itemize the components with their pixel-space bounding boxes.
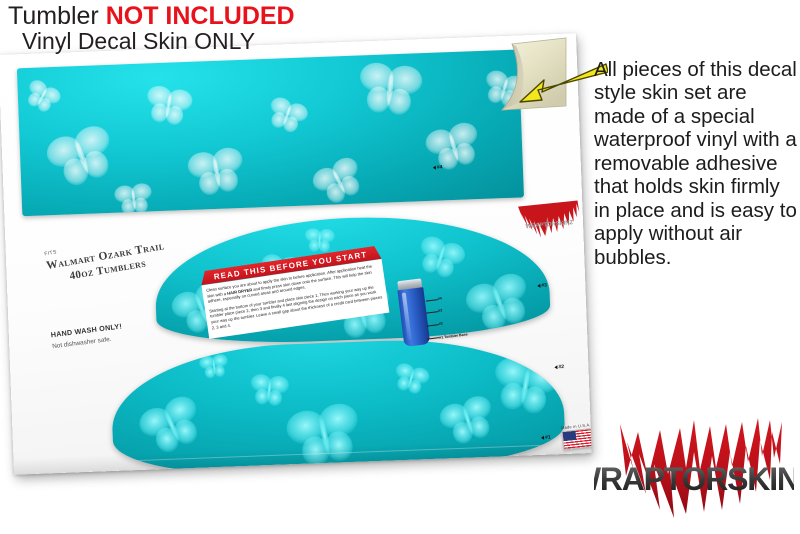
made-in-usa: Made in U.S.A. (561, 422, 592, 450)
edge-marker-3-label: #3 (541, 283, 547, 289)
edge-marker-3-arrow-icon (537, 283, 540, 287)
annotation-text: All pieces of this decal style skin set … (594, 58, 800, 269)
edge-marker-4-arrow-icon (433, 165, 436, 169)
edge-marker-2-label: #2 (558, 364, 564, 370)
header-line-2: Vinyl Decal Skin ONLY (22, 30, 295, 53)
tumbler-callout-4: #4 (438, 296, 442, 300)
hand-wash-notice: HAND WASH ONLY! Not dishwasher safe. (49, 316, 123, 351)
header-line-1: Tumbler NOT INCLUDED (8, 4, 295, 30)
tumbler-callout-3: #3 (438, 308, 442, 312)
edge-marker-1-arrow-icon (541, 435, 544, 439)
edge-marker-1: #1 (541, 435, 551, 441)
tumbler-callout-2: #2 (438, 321, 442, 325)
yellow-arrow-icon (508, 60, 608, 108)
edge-marker-3: #3 (537, 283, 547, 289)
edge-marker-2-arrow-icon (554, 365, 557, 369)
wraptorskinz-logo-text: WRAPTORSKINZ (594, 461, 794, 497)
header-line-1-prefix: Tumbler (8, 2, 106, 30)
wraptorskinz-logo-large: WRAPTORSKINZ (594, 418, 794, 524)
wraptorskinz-logo-small: WRAPTORSKINZ (511, 199, 586, 241)
header-line-1-emphasis: NOT INCLUDED (106, 2, 295, 30)
fits-label: FITS Walmart Ozark Trail 40oz Tumblers (44, 231, 168, 286)
edge-marker-4: #4 (433, 164, 443, 170)
edge-marker-4-label: #4 (437, 164, 443, 170)
flag-canton (563, 431, 577, 441)
header-text: Tumbler NOT INCLUDED Vinyl Decal Skin ON… (8, 4, 295, 53)
callout-line-1 (427, 337, 439, 339)
butterfly-pattern-piece-4 (17, 49, 524, 216)
edge-marker-1-label: #1 (545, 435, 551, 441)
usa-flag-icon (561, 428, 591, 450)
decal-piece-4 (17, 49, 524, 216)
edge-marker-2: #2 (554, 364, 564, 370)
